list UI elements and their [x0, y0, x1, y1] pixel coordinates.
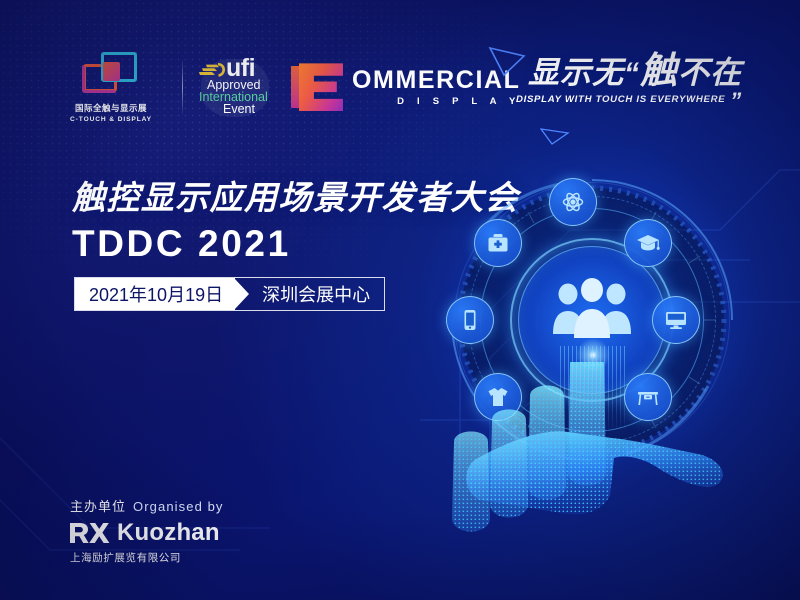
organiser-label-cn: 主办单位	[70, 496, 126, 515]
monitor-icon	[664, 308, 688, 332]
node-atom[interactable]	[549, 178, 597, 226]
ctouch-logo-cn-name: 国际全触与显示展	[75, 103, 147, 114]
gradient-e-mark-icon	[291, 63, 343, 111]
ufi-approved-event-logo: ufi Approved International Event	[199, 55, 273, 119]
commercial-display-logo: OMMERCIAL D I S P L A Y	[291, 63, 521, 111]
slogan-en-row: DISPLAY WITH TOUCH IS EVERYWHERE”	[512, 94, 742, 105]
ufi-wordmark: ufi	[226, 57, 255, 79]
logo-bar: 国际全触与显示展 C-TOUCH & DISPLAY ufi Approved …	[70, 52, 521, 123]
slogan-cn: 显示无“触不在	[512, 52, 742, 91]
slogan-block: 显示无“触不在 DISPLAY WITH TOUCH IS EVERYWHERE…	[512, 52, 742, 105]
wireframe-pointing-hand-icon	[418, 362, 758, 600]
slogan-en-text: DISPLAY WITH TOUCH IS EVERYWHERE	[516, 94, 725, 105]
mobile-phone-icon	[458, 308, 482, 332]
ctouch-display-logo: 国际全触与显示展 C-TOUCH & DISPLAY	[70, 52, 166, 123]
ufi-swoosh-icon	[199, 61, 225, 79]
slogan-quote-close: ”	[730, 88, 742, 113]
triangle-decor-small-icon	[540, 126, 570, 146]
arrow-right-icon	[234, 278, 249, 310]
organiser-company: 上海励扩展览有限公司	[70, 550, 224, 565]
event-date: 2021年10月19日	[75, 278, 235, 310]
slogan-cn-part2: 不在	[678, 55, 742, 90]
node-display[interactable]	[652, 296, 700, 344]
graduation-cap-icon	[636, 231, 660, 255]
commercial-subtitle: D I S P L A Y	[352, 96, 521, 107]
node-mobile[interactable]	[446, 296, 494, 344]
ufi-line-event: Event	[223, 103, 255, 116]
slogan-quote-open: “	[624, 57, 640, 90]
event-venue: 深圳会展中心	[249, 278, 384, 310]
atom-icon	[561, 190, 585, 214]
logo-divider	[182, 58, 183, 116]
people-group-icon	[550, 278, 634, 340]
slogan-cn-part1: 显示无	[528, 55, 624, 90]
organiser-block: 主办单位 Organised by Kuozhan 上海励扩展览有限公司	[70, 496, 224, 565]
ctouch-logo-en-name: C-TOUCH & DISPLAY	[70, 116, 152, 123]
medical-kit-icon	[486, 231, 510, 255]
slogan-cn-highlight: 触	[640, 50, 678, 91]
overlapping-squares-icon	[83, 52, 139, 96]
date-venue-bar: 2021年10月19日 深圳会展中心	[74, 277, 385, 311]
organiser-brand: Kuozhan	[117, 521, 220, 545]
node-medical[interactable]	[474, 219, 522, 267]
commercial-wordmark: OMMERCIAL	[352, 68, 521, 93]
organiser-label-en: Organised by	[133, 499, 224, 514]
rx-logo-icon	[70, 522, 110, 544]
node-education[interactable]	[624, 219, 672, 267]
poster-canvas: 国际全触与显示展 C-TOUCH & DISPLAY ufi Approved …	[0, 0, 800, 600]
